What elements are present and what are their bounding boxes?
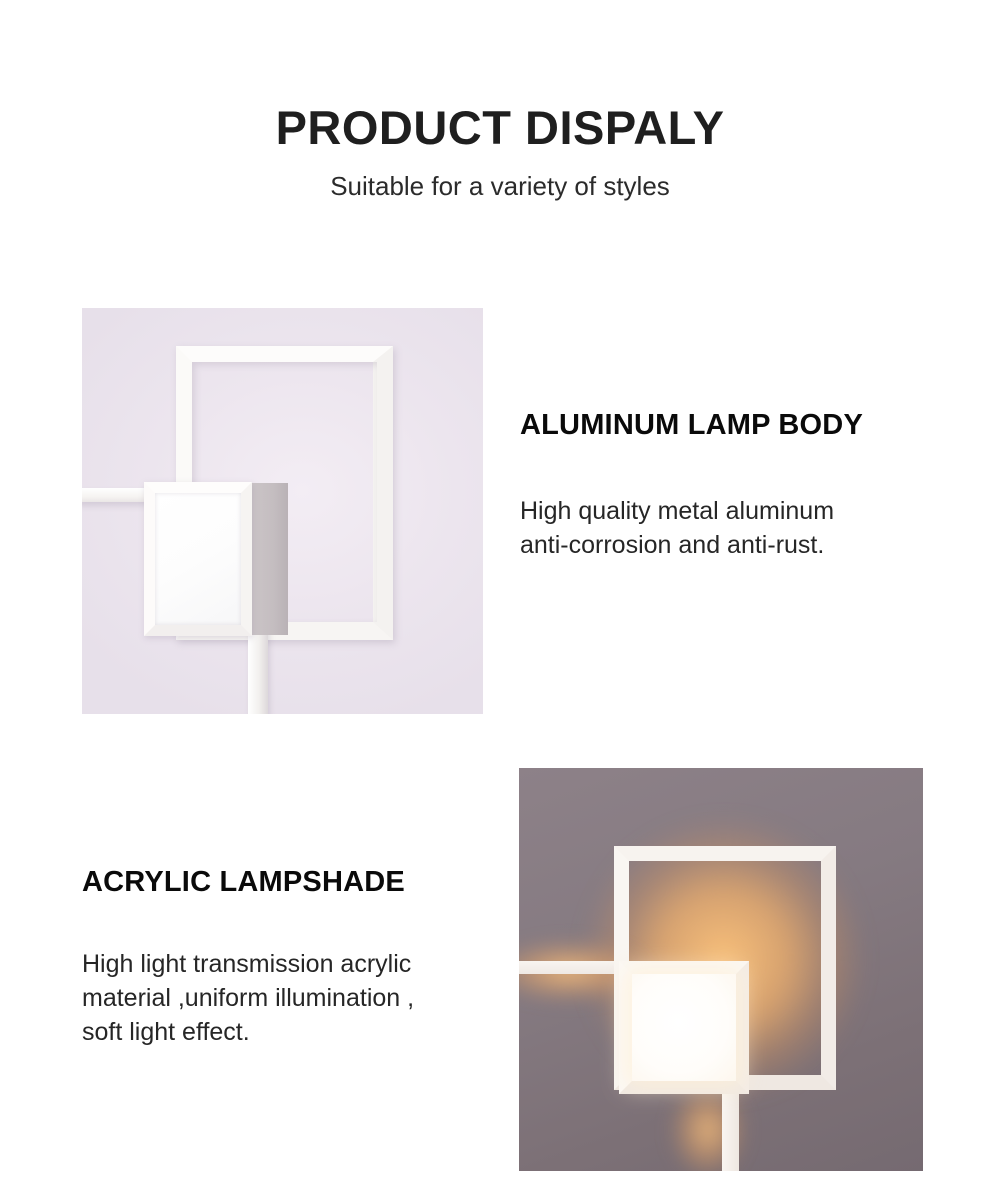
feature-block-aluminum-lamp-body: ALUMINUM LAMP BODY High quality metal al… (520, 408, 950, 562)
feature-heading-aluminum-lamp-body: ALUMINUM LAMP BODY (520, 408, 950, 442)
feature-heading-acrylic-lampshade: ACRYLIC LAMPSHADE (82, 865, 512, 899)
product-photo-aluminum-lamp-body (82, 308, 483, 714)
page-header: PRODUCT DISPALY Suitable for a variety o… (0, 100, 1000, 202)
feature-body-line: soft light effect. (82, 1015, 512, 1049)
feature-block-acrylic-lampshade: ACRYLIC LAMPSHADE High light transmissio… (82, 865, 512, 1049)
product-display-page: PRODUCT DISPALY Suitable for a variety o… (0, 0, 1000, 1199)
lamp-acrylic-diffuser (632, 974, 736, 1081)
feature-body-line: anti-corrosion and anti-rust. (520, 528, 950, 562)
lamp-left-arm (519, 961, 627, 974)
lamp-illustration-unlit (82, 308, 483, 714)
lamp-vertical-stem (248, 626, 268, 714)
lamp-illustration-lit (519, 768, 923, 1171)
feature-body-acrylic-lampshade: High light transmission acrylic material… (82, 947, 512, 1049)
feature-body-line: High quality metal aluminum (520, 494, 950, 528)
page-subtitle: Suitable for a variety of styles (0, 170, 1000, 202)
feature-body-line: material ,uniform illumination , (82, 981, 512, 1015)
feature-body-line: High light transmission acrylic (82, 947, 512, 981)
lamp-acrylic-diffuser (155, 493, 241, 625)
page-title: PRODUCT DISPALY (0, 100, 1000, 156)
feature-body-aluminum-lamp-body: High quality metal aluminum anti-corrosi… (520, 494, 950, 562)
lamp-vertical-stem (722, 1086, 739, 1171)
product-photo-acrylic-lampshade (519, 768, 923, 1171)
